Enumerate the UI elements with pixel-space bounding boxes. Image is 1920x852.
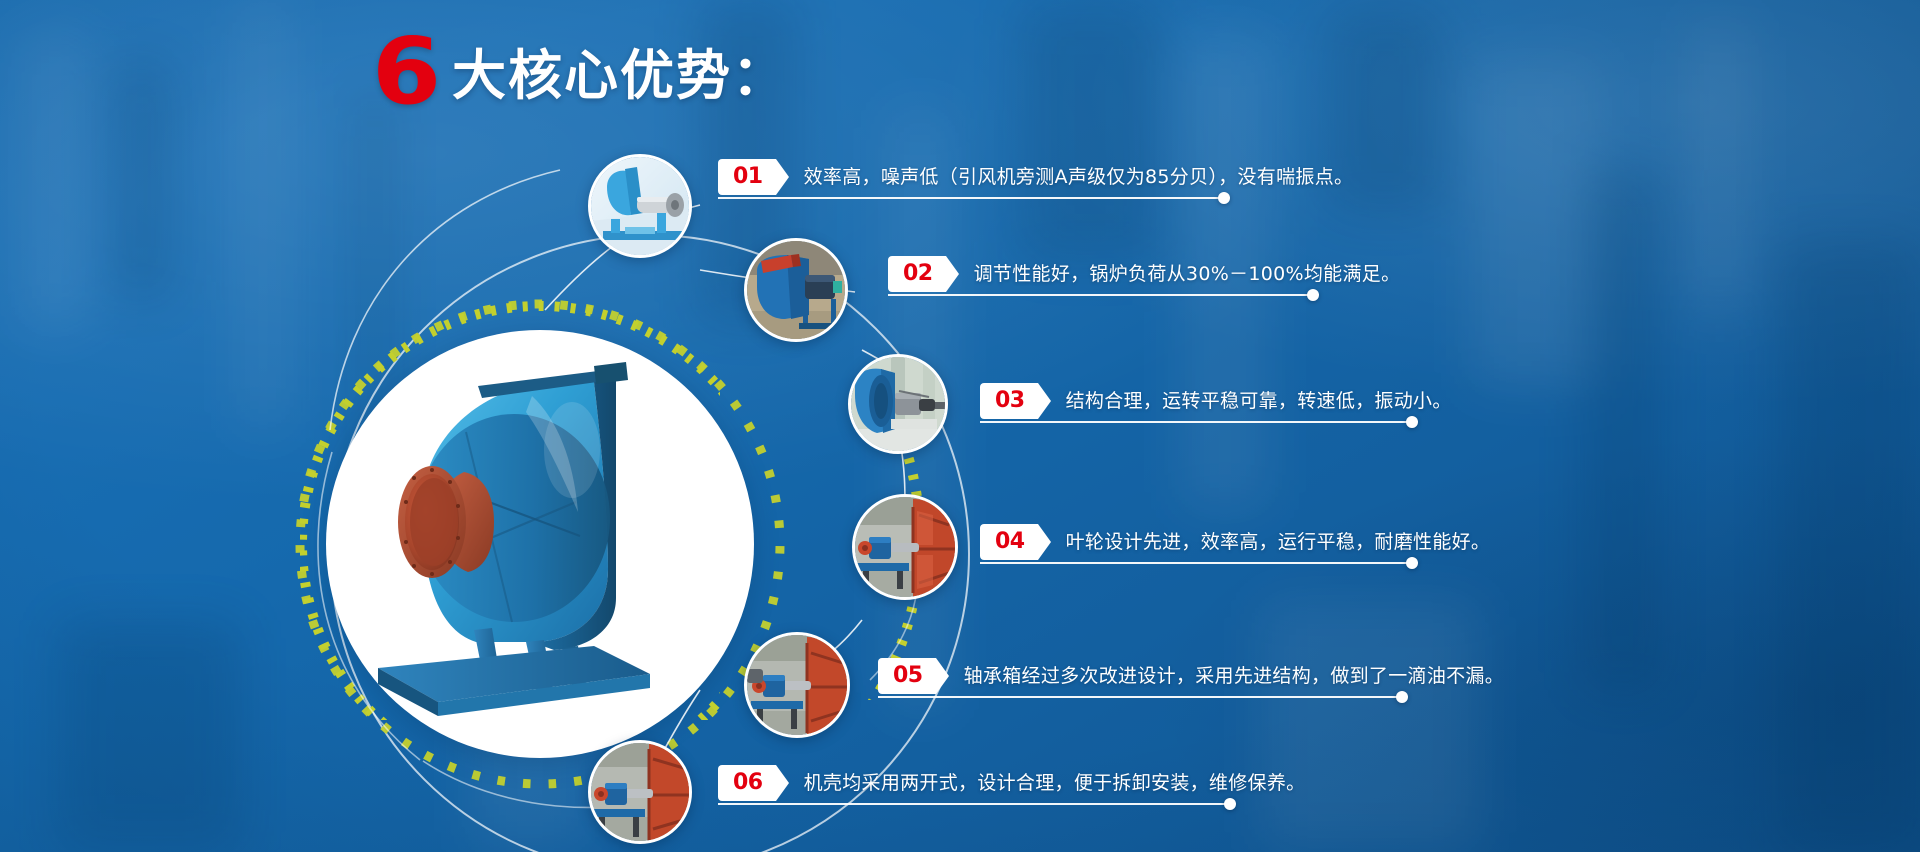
advantage-enddot-03 xyxy=(1406,416,1418,428)
advantage-number-05: 05 xyxy=(878,658,936,694)
advantage-text-04: 叶轮设计先进，效率高，运行平稳，耐磨性能好。 xyxy=(1066,524,1491,560)
thumbnail-04[interactable] xyxy=(852,494,958,600)
thumbnail-02[interactable] xyxy=(744,238,848,342)
advantage-underline-05 xyxy=(878,696,1402,698)
advantage-text-03: 结构合理，运转平稳可靠，转速低，振动小。 xyxy=(1066,383,1452,419)
advantage-number-04: 04 xyxy=(980,524,1038,560)
advantage-label-06[interactable]: 06 机壳均采用两开式，设计合理，便于拆卸安装，维修保养。 xyxy=(718,765,1305,801)
advantage-underline-04 xyxy=(980,562,1412,564)
advantage-number-03: 03 xyxy=(980,383,1038,419)
advantage-number-02: 02 xyxy=(888,256,946,292)
advantage-underline-01 xyxy=(718,197,1224,199)
advantage-text-01: 效率高，噪声低（引风机旁测A声级仅为85分贝），没有喘振点。 xyxy=(804,159,1354,195)
thumbnail-03[interactable] xyxy=(848,354,948,454)
advantage-enddot-02 xyxy=(1307,289,1319,301)
advantage-enddot-04 xyxy=(1406,557,1418,569)
advantage-underline-06 xyxy=(718,803,1230,805)
advantage-label-03[interactable]: 03 结构合理，运转平稳可靠，转速低，振动小。 xyxy=(980,383,1452,419)
thumbnail-05[interactable] xyxy=(744,632,850,738)
advantage-underline-02 xyxy=(888,294,1313,296)
advantage-text-05: 轴承箱经过多次改进设计，采用先进结构，做到了一滴油不漏。 xyxy=(964,658,1504,694)
advantages-infographic: 6 大核心优势： xyxy=(0,0,1920,852)
advantage-label-04[interactable]: 04 叶轮设计先进，效率高，运行平稳，耐磨性能好。 xyxy=(980,524,1490,560)
advantage-label-02[interactable]: 02 调节性能好，锅炉负荷从30%－100%均能满足。 xyxy=(888,256,1400,292)
advantage-underline-03 xyxy=(980,421,1412,423)
advantage-label-01[interactable]: 01 效率高，噪声低（引风机旁测A声级仅为85分贝），没有喘振点。 xyxy=(718,159,1353,195)
thumbnail-06[interactable] xyxy=(588,740,692,844)
ring-system: 01 效率高，噪声低（引风机旁测A声级仅为85分贝），没有喘振点。 02 调节性… xyxy=(0,0,1920,852)
advantage-text-02: 调节性能好，锅炉负荷从30%－100%均能满足。 xyxy=(974,256,1401,292)
title-text: 大核心优势： xyxy=(452,49,788,109)
advantage-enddot-01 xyxy=(1218,192,1230,204)
title-number: 6 xyxy=(372,34,439,109)
advantage-label-05[interactable]: 05 轴承箱经过多次改进设计，采用先进结构，做到了一滴油不漏。 xyxy=(878,658,1504,694)
advantage-number-01: 01 xyxy=(718,159,776,195)
advantage-enddot-06 xyxy=(1224,798,1236,810)
page-title: 6 大核心优势： xyxy=(372,34,788,109)
thumbnail-01[interactable] xyxy=(588,154,692,258)
advantage-enddot-05 xyxy=(1396,691,1408,703)
connector-lines xyxy=(0,0,1920,852)
advantage-number-06: 06 xyxy=(718,765,776,801)
advantage-text-06: 机壳均采用两开式，设计合理，便于拆卸安装，维修保养。 xyxy=(804,765,1306,801)
